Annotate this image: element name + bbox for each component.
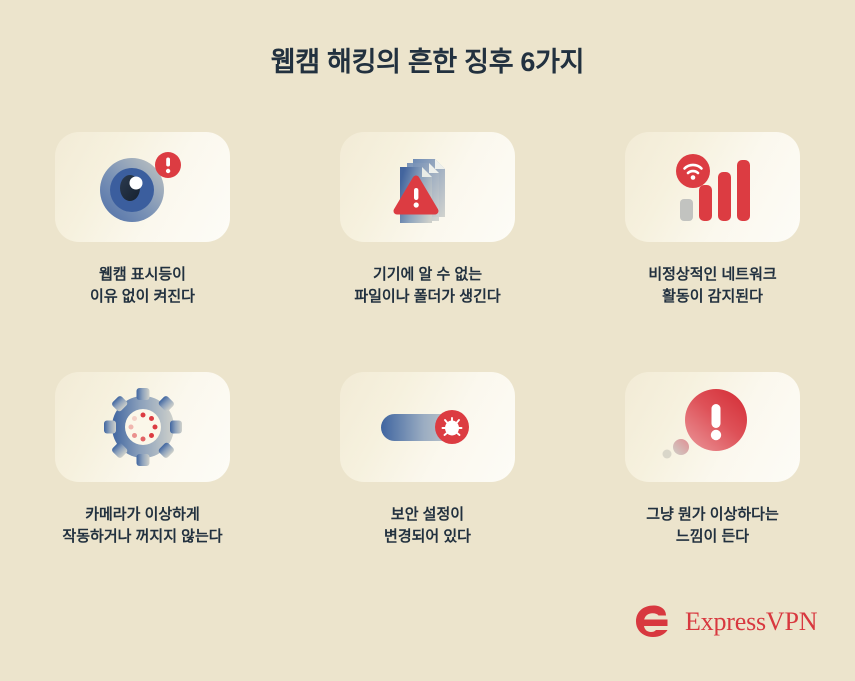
thought-bubble-exclamation-svg	[658, 383, 768, 471]
icon-card-5	[340, 372, 515, 482]
expressvpn-e-mark-icon	[632, 602, 676, 642]
webcam-lens-alert-icon	[88, 143, 198, 231]
page-title: 웹캠 해킹의 흔한 징후 6가지	[0, 40, 855, 79]
icon-card-2	[340, 132, 515, 242]
sign-caption-5: 보안 설정이 변경되어 있다	[384, 504, 471, 548]
icon-card-4	[55, 372, 230, 482]
sign-item-1: 웹캠 표시등이 이유 없이 켜진다	[0, 132, 285, 372]
expressvpn-wordmark: ExpressVPN	[685, 607, 817, 637]
webcam-lens-alert-svg	[88, 143, 198, 231]
gear-loading-icon	[88, 383, 198, 471]
sign-item-4: 카메라가 이상하게 작동하거나 꺼지지 않는다	[0, 372, 285, 612]
icon-card-6	[625, 372, 800, 482]
sign-caption-3: 비정상적인 네트워크 활동이 감지된다	[648, 264, 776, 308]
thought-bubble-exclamation-icon	[658, 383, 768, 471]
security-toggle-bug-svg	[373, 383, 483, 471]
security-toggle-bug-icon	[373, 383, 483, 471]
sign-item-5: 보안 설정이 변경되어 있다	[285, 372, 570, 612]
icon-card-1	[55, 132, 230, 242]
network-activity-signal-icon	[658, 143, 768, 231]
sign-item-3: 비정상적인 네트워크 활동이 감지된다	[570, 132, 855, 372]
sign-caption-1: 웹캠 표시등이 이유 없이 켜진다	[90, 264, 195, 308]
sign-caption-4: 카메라가 이상하게 작동하거나 꺼지지 않는다	[62, 504, 222, 548]
unknown-files-warning-svg	[373, 143, 483, 231]
sign-caption-6: 그냥 뭔가 이상하다는 느낌이 든다	[646, 504, 779, 548]
signs-grid: 웹캠 표시등이 이유 없이 켜진다	[0, 132, 855, 612]
icon-card-3	[625, 132, 800, 242]
sign-item-6: 그냥 뭔가 이상하다는 느낌이 든다	[570, 372, 855, 612]
expressvpn-logo[interactable]: ExpressVPN	[632, 602, 817, 642]
gear-loading-svg	[88, 383, 198, 471]
infographic-page: 웹캠 해킹의 흔한 징후 6가지	[0, 0, 855, 681]
unknown-files-warning-icon	[373, 143, 483, 231]
network-activity-signal-svg	[658, 143, 768, 231]
sign-item-2: 기기에 알 수 없는 파일이나 폴더가 생긴다	[285, 132, 570, 372]
sign-caption-2: 기기에 알 수 없는 파일이나 폴더가 생긴다	[354, 264, 500, 308]
